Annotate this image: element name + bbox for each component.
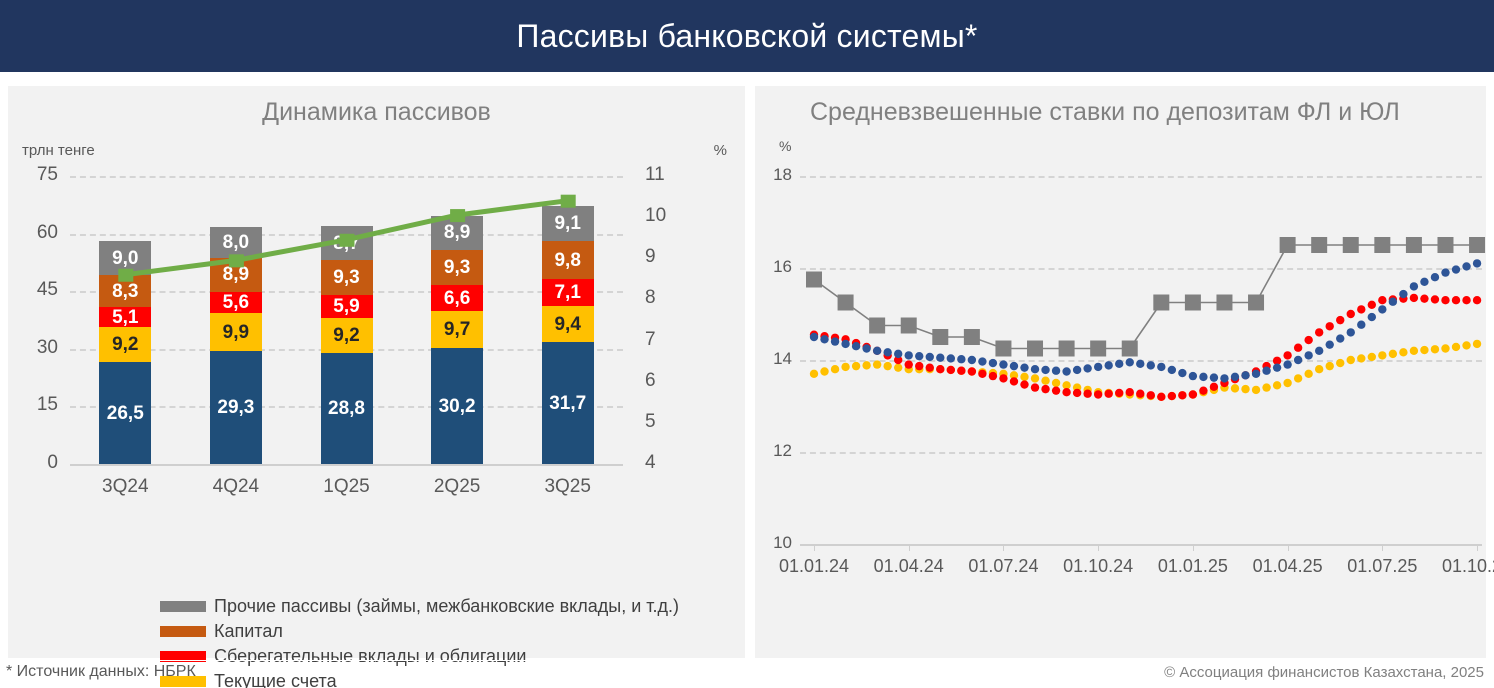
rates-dot-marker [1441, 344, 1449, 352]
rates-dot-marker [1178, 391, 1186, 399]
legend-current-accounts-label: Текущие счета [214, 671, 337, 688]
rates-dot-marker [1031, 383, 1039, 391]
rates-dot-marker [1336, 316, 1344, 324]
rates-dot-marker [1231, 375, 1239, 383]
rates-dot-marker [1347, 328, 1355, 336]
right-chart-xtick-mark [1477, 544, 1478, 551]
rates-dot-marker [1168, 366, 1176, 374]
right-chart-xtick: 01.10.25 [1427, 556, 1494, 577]
base-rate-marker [1185, 295, 1201, 311]
rates-dot-marker [1262, 383, 1270, 391]
legend-item[interactable]: Прочие пассивы (займы, межбанковские вкл… [160, 594, 679, 619]
base-rate-marker [806, 272, 822, 288]
rates-dot-marker [1220, 379, 1228, 387]
right-chart-xtick-mark [1098, 544, 1099, 551]
rates-dot-marker [810, 331, 818, 339]
rates-dot-marker [1283, 379, 1291, 387]
bar-segment[interactable]: 26,5 [99, 362, 151, 464]
rates-dot-marker [1157, 393, 1165, 401]
bar-segment[interactable]: 31,7 [542, 342, 594, 464]
rates-dot-marker [883, 351, 891, 359]
right-chart-gridline [800, 452, 1482, 454]
right-chart-xtick-mark [909, 544, 910, 551]
rates-dot-marker [841, 363, 849, 371]
left-chart-right-ytick: 11 [645, 164, 685, 186]
left-chart-ytick: 45 [18, 279, 58, 301]
right-chart-xtick-mark [814, 544, 815, 551]
bar-column[interactable]: 26,59,25,18,39,0 [99, 176, 151, 464]
rates-dot-marker [1241, 371, 1249, 379]
rates-dot-marker [1410, 347, 1418, 355]
rates-dot-marker [1452, 296, 1460, 304]
base-rate-marker [1469, 237, 1485, 253]
base-rate-marker [869, 318, 885, 334]
legend-item[interactable]: Сберегательные вклады и облигации [160, 644, 679, 669]
rates-dot-marker [894, 363, 902, 371]
rates-dot-marker [1210, 383, 1218, 391]
rates-dot-marker [1220, 383, 1228, 391]
bar-column[interactable]: 29,39,95,68,98,0 [210, 176, 262, 464]
left-chart-right-ytick: 7 [645, 329, 685, 351]
rates-dot-marker [1473, 259, 1481, 267]
right-chart-xtick: 01.10.24 [1048, 556, 1148, 577]
right-chart-gridline [800, 544, 1482, 546]
rates-dot-marker [1178, 391, 1186, 399]
rates-dot-marker [1199, 388, 1207, 396]
rates-dot-marker [1157, 363, 1165, 371]
rates-dot-marker [883, 362, 891, 370]
rates-dot-marker [905, 351, 913, 359]
rates-dot-marker [1410, 294, 1418, 302]
rates-dot-marker [957, 367, 965, 375]
chart-panel-liabilities: Динамика пассивов трлн тенге % 015304560… [8, 86, 745, 658]
rates-dot-marker [1094, 363, 1102, 371]
rates-dot-marker [1094, 390, 1102, 398]
rates-dot-marker [1378, 305, 1386, 313]
rates-dot-marker [1462, 296, 1470, 304]
rates-dot-marker [1115, 390, 1123, 398]
base-rate-marker [1216, 295, 1232, 311]
bar-segment[interactable]: 5,9 [321, 295, 373, 318]
rates-dot-marker [1210, 373, 1218, 381]
left-chart-right-ytick: 6 [645, 370, 685, 392]
left-chart-ytick: 15 [18, 394, 58, 416]
legend-other-liabilities-label: Прочие пассивы (займы, межбанковские вкл… [214, 596, 679, 617]
right-chart-xtick: 01.01.25 [1143, 556, 1243, 577]
rates-dot-marker [957, 367, 965, 375]
bar-segment[interactable]: 8,3 [99, 275, 151, 307]
rates-dot-marker [1020, 373, 1028, 381]
base-rate-marker [1027, 341, 1043, 357]
right-chart-gridline [800, 268, 1482, 270]
rates-dot-marker [1326, 322, 1334, 330]
rates-dot-marker [810, 333, 818, 341]
rates-dot-marker [820, 367, 828, 375]
rates-dot-marker [1378, 296, 1386, 304]
right-chart-xtick: 01.04.25 [1238, 556, 1338, 577]
rates-dot-marker [1189, 372, 1197, 380]
rates-dot-marker [1241, 385, 1249, 393]
rates-dot-marker [989, 372, 997, 380]
rates-dot-marker [1389, 295, 1397, 303]
rates-dot-marker [1315, 365, 1323, 373]
legend-item[interactable]: Текущие счета [160, 669, 679, 688]
rates-dot-marker [1304, 336, 1312, 344]
rates-dot-marker [1399, 348, 1407, 356]
rates-dot-marker [1020, 380, 1028, 388]
rates-dot-marker [883, 348, 891, 356]
rates-dot-marker [936, 365, 944, 373]
rates-dot-marker [841, 340, 849, 348]
rates-dot-marker [1368, 301, 1376, 309]
rates-dot-marker [1399, 294, 1407, 302]
bar-column[interactable]: 28,89,25,99,38,7 [321, 176, 373, 464]
rates-dot-marker [1357, 321, 1365, 329]
rates-dot-marker [1431, 273, 1439, 281]
rates-dot-marker [820, 335, 828, 343]
right-chart-xtick: 01.04.24 [859, 556, 959, 577]
left-chart-xtick: 4Q24 [191, 476, 281, 498]
rates-dot-marker [1368, 313, 1376, 321]
rates-dot-marker [1210, 386, 1218, 394]
base-rate-marker [1311, 237, 1327, 253]
rates-dot-marker [1273, 381, 1281, 389]
rates-dot-marker [947, 366, 955, 374]
base-rate-marker [964, 329, 980, 345]
right-chart-xtick-mark [1382, 544, 1383, 551]
rates-dot-marker [926, 365, 934, 373]
page-title: Пассивы банковской системы* [516, 18, 977, 55]
rates-dot-marker [1315, 328, 1323, 336]
bar-segment[interactable]: 28,8 [321, 353, 373, 464]
base-rate-marker [1248, 295, 1264, 311]
rates-dot-marker [989, 369, 997, 377]
rates-dot-marker [1220, 374, 1228, 382]
right-chart-ytick: 18 [752, 165, 792, 185]
rates-dot-marker [1052, 379, 1060, 387]
rates-dot-marker [1473, 296, 1481, 304]
rates-dot-marker [1073, 389, 1081, 397]
rates-dot-marker [831, 337, 839, 345]
base-rate-marker [1059, 341, 1075, 357]
rates-dot-marker [1326, 362, 1334, 370]
rates-dot-marker [1147, 392, 1155, 400]
rates-dot-marker [947, 366, 955, 374]
rates-dot-marker [1420, 278, 1428, 286]
left-chart-xtick: 1Q25 [302, 476, 392, 498]
rates-dot-marker [1052, 367, 1060, 375]
base-rate-marker [1090, 341, 1106, 357]
rates-dot-marker [1420, 346, 1428, 354]
rates-dot-marker [1273, 363, 1281, 371]
rates-dot-marker [1294, 374, 1302, 382]
rates-dot-marker [1399, 290, 1407, 298]
rates-dot-marker [1231, 384, 1239, 392]
rates-dot-marker [1378, 351, 1386, 359]
right-chart-xtick-mark [1193, 544, 1194, 551]
base-rate-marker [932, 329, 948, 345]
rates-dot-marker [873, 347, 881, 355]
legend-capital-swatch [160, 626, 206, 637]
slide-root: Пассивы банковской системы* Динамика пас… [0, 0, 1494, 688]
rates-dot-marker [1304, 370, 1312, 378]
rates-dot-marker [1136, 390, 1144, 398]
bar-segment[interactable]: 9,0 [99, 241, 151, 276]
rates-dot-marker [852, 339, 860, 347]
right-chart-xtick: 01.07.24 [953, 556, 1053, 577]
rates-dot-marker [1104, 361, 1112, 369]
rates-dot-marker [1104, 390, 1112, 398]
bar-segment[interactable]: 30,2 [431, 348, 483, 464]
rates-dot-marker [1199, 386, 1207, 394]
rates-dot-marker [1083, 390, 1091, 398]
right-chart-xtick-mark [1003, 544, 1004, 551]
bar-segment[interactable]: 9,7 [431, 311, 483, 348]
rates-dot-marker [1252, 367, 1260, 375]
rates-dot-marker [1462, 341, 1470, 349]
right-chart-ytick: 12 [752, 441, 792, 461]
rates-dot-marker [831, 334, 839, 342]
bar-segment[interactable]: 9,9 [210, 313, 262, 351]
rates-dot-marker [1420, 294, 1428, 302]
left-chart-xtick: 3Q25 [523, 476, 613, 498]
rates-dot-marker [894, 350, 902, 358]
rates-dot-marker [1389, 298, 1397, 306]
left-chart-right-ytick: 8 [645, 287, 685, 309]
rates-dot-marker [1073, 366, 1081, 374]
rates-dot-marker [1431, 345, 1439, 353]
rates-dot-marker [862, 343, 870, 351]
rates-dot-marker [1189, 390, 1197, 398]
left-chart-ytick: 60 [18, 222, 58, 244]
left-chart-ytick: 0 [18, 452, 58, 474]
rates-dot-marker [1041, 377, 1049, 385]
rates-dot-marker [862, 344, 870, 352]
right-chart-xtick-mark [1288, 544, 1289, 551]
rates-dot-marker [1094, 388, 1102, 396]
rates-dot-marker [1336, 334, 1344, 342]
bar-segment[interactable]: 8,9 [210, 258, 262, 292]
rates-dot-marker [915, 365, 923, 373]
rates-dot-marker [1083, 364, 1091, 372]
base-rate-marker [1122, 341, 1138, 357]
rates-dot-marker [852, 342, 860, 350]
left-chart-gridline [70, 464, 623, 466]
rates-dot-marker [1126, 388, 1134, 396]
rates-dot-marker [1294, 344, 1302, 352]
bar-segment[interactable]: 29,3 [210, 351, 262, 464]
base-rate-marker [1153, 295, 1169, 311]
left-chart-xtick: 2Q25 [412, 476, 502, 498]
source-note: * Источник данных: НБРК [6, 663, 196, 681]
bar-segment[interactable]: 8,9 [431, 216, 483, 250]
rates-dot-marker [1010, 377, 1018, 385]
liabilities-plot: 01530456075456789101126,59,25,18,39,03Q2… [8, 86, 745, 658]
rates-dot-marker [1431, 295, 1439, 303]
left-chart-right-ytick: 10 [645, 205, 685, 227]
chart-panel-rates: Средневзвешенные ставки по депозитам ФЛ … [755, 86, 1486, 658]
bar-segment[interactable]: 9,1 [542, 206, 594, 241]
rates-dot-marker [1010, 371, 1018, 379]
rates-dot-marker [1189, 390, 1197, 398]
right-chart-xtick: 01.07.25 [1332, 556, 1432, 577]
footer-divider [0, 660, 1494, 661]
rates-dot-marker [1283, 351, 1291, 359]
rates-dot-marker [1147, 391, 1155, 399]
base-rate-line [814, 245, 1477, 349]
left-chart-right-ytick: 5 [645, 411, 685, 433]
left-chart-ytick: 75 [18, 164, 58, 186]
bar-segment[interactable]: 5,6 [210, 292, 262, 314]
bar-column[interactable]: 30,29,76,69,38,9 [431, 176, 483, 464]
bar-column[interactable]: 31,79,47,19,89,1 [542, 176, 594, 464]
rates-dot-marker [1073, 383, 1081, 391]
rates-dot-marker [1062, 388, 1070, 396]
rates-dot-marker [1168, 392, 1176, 400]
base-rate-marker [1374, 237, 1390, 253]
bar-segment[interactable]: 9,2 [99, 327, 151, 362]
rates-dot-marker [1262, 362, 1270, 370]
rates-dot-marker [1062, 367, 1070, 375]
rates-dot-marker [1473, 340, 1481, 348]
base-rate-marker [1343, 237, 1359, 253]
rates-dot-marker [936, 365, 944, 373]
rates-dot-marker [1326, 340, 1334, 348]
rates-dot-marker [1136, 391, 1144, 399]
rates-dot-marker [1062, 381, 1070, 389]
rates-dot-marker [999, 370, 1007, 378]
rates-dot-marker [1178, 369, 1186, 377]
bar-segment[interactable]: 8,7 [321, 226, 373, 259]
rates-dot-marker [1389, 350, 1397, 358]
rates-dot-marker [968, 367, 976, 375]
rates-dot-marker [1252, 386, 1260, 394]
rates-dot-marker [1041, 366, 1049, 374]
bar-segment[interactable]: 9,4 [542, 306, 594, 342]
left-chart-ytick: 30 [18, 337, 58, 359]
rates-dot-marker [1441, 296, 1449, 304]
right-chart-ytick: 10 [752, 533, 792, 553]
bar-segment[interactable]: 9,2 [321, 318, 373, 353]
rates-dot-marker [978, 370, 986, 378]
legend-other-liabilities-swatch [160, 601, 206, 612]
rates-dot-marker [1010, 362, 1018, 370]
rates-dot-marker [1452, 343, 1460, 351]
left-chart-legend: Прочие пассивы (займы, межбанковские вкл… [160, 594, 679, 688]
rates-dot-marker [873, 347, 881, 355]
rates-dot-marker [978, 368, 986, 376]
legend-capital-label: Капитал [214, 621, 283, 642]
rates-dot-marker [1252, 370, 1260, 378]
rates-dot-marker [1031, 365, 1039, 373]
rates-dot-marker [810, 370, 818, 378]
rates-dot-marker [1357, 305, 1365, 313]
rates-dot-marker [831, 365, 839, 373]
rates-dot-marker [1083, 386, 1091, 394]
bar-segment[interactable]: 7,1 [542, 279, 594, 306]
right-chart-ytick: 16 [752, 257, 792, 277]
bar-segment[interactable]: 6,6 [431, 285, 483, 310]
rates-dot-marker [1231, 373, 1239, 381]
rates-dot-marker [1168, 392, 1176, 400]
rates-dot-marker [1410, 282, 1418, 290]
rates-dot-marker [905, 365, 913, 373]
base-rate-marker [901, 318, 917, 334]
rates-dot-marker [1241, 371, 1249, 379]
rates-dot-marker [1115, 389, 1123, 397]
base-rate-marker [995, 341, 1011, 357]
bar-segment[interactable]: 9,3 [321, 260, 373, 296]
left-chart-right-ytick: 9 [645, 246, 685, 268]
rates-dot-marker [852, 362, 860, 370]
rates-dot-marker [1199, 373, 1207, 381]
rates-dot-marker [841, 335, 849, 343]
base-rate-marker [1437, 237, 1453, 253]
right-chart-ytick: 14 [752, 349, 792, 369]
rates-dot-marker [1347, 310, 1355, 318]
bar-segment[interactable]: 5,1 [99, 307, 151, 327]
rates-dot-marker [999, 374, 1007, 382]
rates-dot-marker [1147, 361, 1155, 369]
rates-dot-marker [1104, 389, 1112, 397]
rates-dot-marker [1020, 363, 1028, 371]
rates-dot-marker [1126, 390, 1134, 398]
rates-dot-marker [1031, 374, 1039, 382]
bar-segment[interactable]: 9,3 [431, 250, 483, 286]
bar-segment[interactable]: 9,8 [542, 241, 594, 279]
rates-plot: 101214161801.01.2401.04.2401.07.2401.10.… [755, 86, 1486, 658]
base-rate-marker [1406, 237, 1422, 253]
rates-dot-marker [915, 362, 923, 370]
rates-dot-marker [1041, 385, 1049, 393]
base-rate-marker [1280, 237, 1296, 253]
left-chart-right-ytick: 4 [645, 452, 685, 474]
left-chart-xtick: 3Q24 [80, 476, 170, 498]
rates-dot-marker [820, 332, 828, 340]
copyright-note: © Ассоциация финансистов Казахстана, 202… [1164, 664, 1484, 681]
slide-header: Пассивы банковской системы* [0, 0, 1494, 72]
rates-dot-marker [1262, 367, 1270, 375]
rates-dot-marker [1052, 386, 1060, 394]
rates-dot-marker [1304, 351, 1312, 359]
rates-dot-marker [862, 361, 870, 369]
right-chart-gridline [800, 176, 1482, 178]
legend-savings-label: Сберегательные вклады и облигации [214, 646, 526, 667]
bar-segment[interactable]: 8,0 [210, 227, 262, 258]
rates-dot-marker [926, 363, 934, 371]
rates-dot-marker [1157, 393, 1165, 401]
rates-dot-marker [968, 367, 976, 375]
base-rate-marker [838, 295, 854, 311]
legend-item[interactable]: Капитал [160, 619, 679, 644]
right-chart-gridline [800, 360, 1482, 362]
right-chart-xtick: 01.01.24 [764, 556, 864, 577]
rates-dot-marker [1315, 347, 1323, 355]
